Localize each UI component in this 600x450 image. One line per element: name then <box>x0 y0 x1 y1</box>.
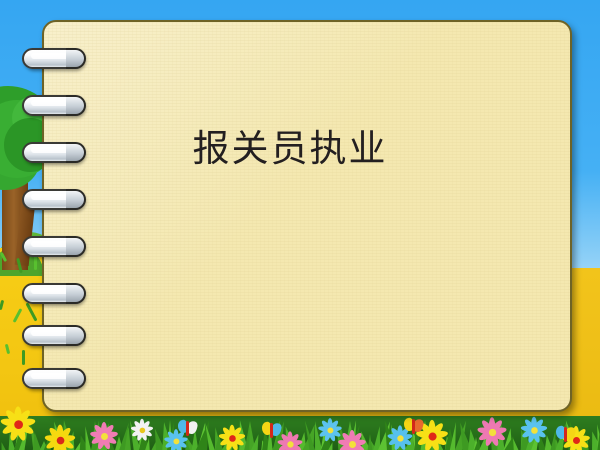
butterfly-body <box>564 427 567 442</box>
flower-center <box>428 432 436 440</box>
ring-highlight <box>31 373 73 379</box>
flower-center <box>56 436 64 444</box>
flower-center <box>101 433 108 440</box>
paper-texture <box>44 22 570 410</box>
flower-center <box>531 427 538 434</box>
butterfly-body <box>186 421 189 436</box>
binder-ring-5 <box>22 236 84 257</box>
binder-ring-3 <box>22 142 84 163</box>
binder-ring-1 <box>22 48 84 69</box>
ring-highlight <box>31 241 73 247</box>
ring-highlight <box>31 100 73 106</box>
binder-ring-4 <box>22 189 84 210</box>
ring-highlight <box>31 194 73 200</box>
slide-canvas: 报关员执业 <box>0 0 600 450</box>
grass-tuft <box>22 350 25 365</box>
flower-center <box>229 435 236 442</box>
ring-highlight <box>31 147 73 153</box>
binder-ring-7 <box>22 325 84 346</box>
ring-highlight <box>31 330 73 336</box>
flower-center <box>327 427 333 433</box>
flower-center <box>349 441 356 448</box>
butterfly-body <box>412 419 415 434</box>
binder-ring-6 <box>22 283 84 304</box>
binder-ring-8 <box>22 368 84 389</box>
butterfly-2 <box>262 422 282 439</box>
butterfly-4 <box>556 426 576 443</box>
ring-highlight <box>31 53 73 59</box>
binder-ring-2 <box>22 95 84 116</box>
flower-center <box>173 438 179 444</box>
butterfly-3 <box>404 418 424 435</box>
page-title: 报关员执业 <box>60 126 520 172</box>
flower-center <box>488 428 495 435</box>
butterfly-body <box>270 423 273 438</box>
flower-center <box>397 435 403 441</box>
flower-center <box>139 427 145 433</box>
butterfly-1 <box>178 420 198 437</box>
flower-center <box>14 420 23 429</box>
paper-card <box>42 20 572 412</box>
ring-highlight <box>31 288 73 294</box>
flower-center <box>287 441 293 447</box>
